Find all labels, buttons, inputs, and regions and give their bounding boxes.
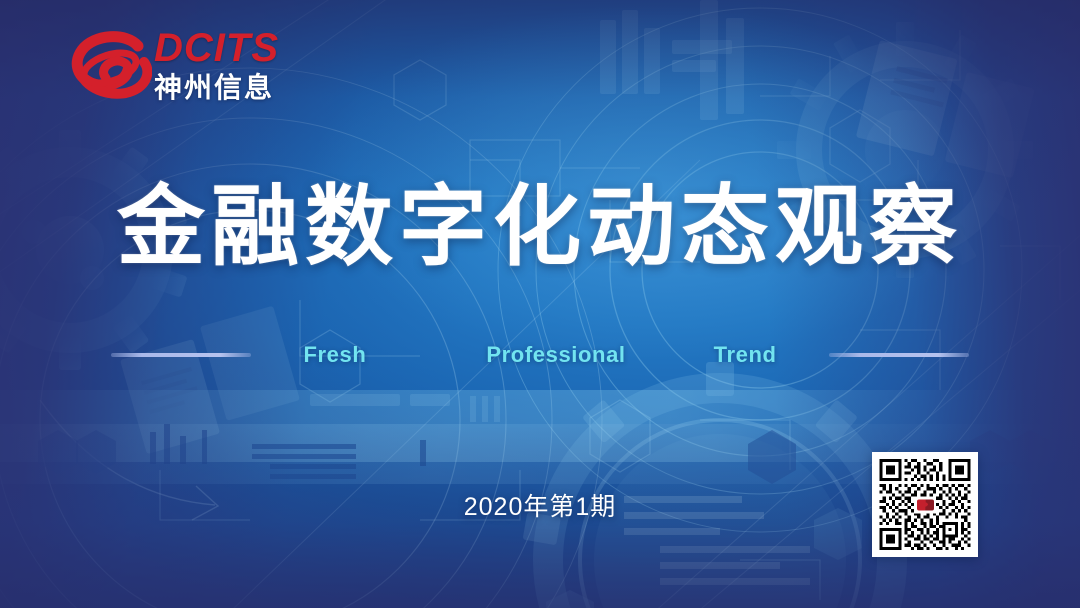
tagline-word-trend: Trend	[714, 342, 777, 368]
qr-code[interactable]	[872, 452, 978, 557]
dcits-swirl-logo-icon	[68, 30, 152, 106]
tagline-row: Fresh Professional Trend	[0, 337, 1080, 373]
tagline-rule-right	[829, 353, 969, 357]
tagline-word-fresh: Fresh	[303, 342, 366, 368]
brand-logo: DCITS 神州信息	[68, 28, 338, 110]
page-title: 金融数字化动态观察	[0, 178, 1080, 277]
tagline-word-professional: Professional	[486, 342, 625, 368]
brand-chinese-text: 神州信息	[154, 72, 279, 104]
dcits-mini-logo-icon	[917, 499, 934, 510]
brand-latin-text: DCITS	[154, 28, 279, 68]
tagline-rule-left	[111, 353, 251, 357]
brand-wordmark: DCITS 神州信息	[154, 28, 279, 104]
cover-slide: DCITS 神州信息 金融数字化动态观察 Fresh Professional …	[0, 0, 1080, 608]
qr-center-logo	[914, 496, 936, 513]
